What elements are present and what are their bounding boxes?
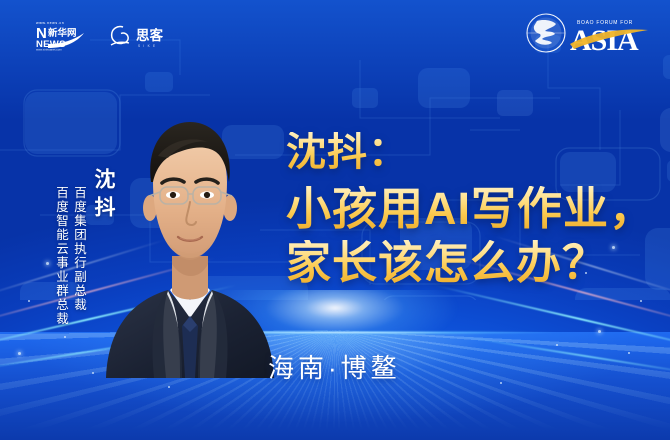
speaker-title-line-2: 百度智能云事业群总裁 [52, 186, 71, 326]
portrait-speaker [96, 78, 284, 378]
poster-root: www.news.cn N 新华网 NEWS www.xinhuanet.com… [0, 0, 670, 440]
xinhuanet-logo[interactable]: www.news.cn N 新华网 NEWS www.xinhuanet.com [36, 19, 114, 51]
headline-line-2: 小孩用AI写作业， [286, 186, 655, 231]
sparkle [640, 300, 642, 302]
sparkle [500, 382, 502, 384]
headline-line-3: 家长该怎么办？ [286, 240, 655, 285]
sparkle [28, 300, 30, 302]
sike-latin: S I K E [138, 44, 156, 48]
speaker-name-vertical: 沈抖 [88, 168, 118, 224]
sparkle [598, 330, 601, 333]
sike-logo[interactable]: 思客 S I K E [108, 21, 180, 49]
headline-block: 沈抖： 小孩用AI写作业， 家长该怎么办？ [286, 132, 655, 285]
sike-chinese: 思客 [136, 27, 163, 44]
sparkle [18, 352, 21, 355]
sparkle [64, 336, 66, 338]
xinhuanet-chinese: 新华网 [48, 27, 77, 39]
xinhuanet-url-bottom: www.xinhuanet.com [36, 48, 62, 51]
sparkle [46, 262, 49, 265]
location-label: 海南·博鳌 [268, 348, 401, 385]
speaker-title-line-1: 百度集团执行副总裁 [70, 186, 89, 312]
boao-forum-asia-logo[interactable]: BOAO FORUM FOR ASIA [520, 8, 652, 58]
sparkle [92, 372, 94, 374]
globe-icon [527, 14, 565, 52]
sike-spiral-icon [112, 27, 129, 44]
sparkle [168, 386, 170, 388]
sparkle [628, 352, 630, 354]
headline-line-1: 沈抖： [286, 132, 655, 172]
sparkle [556, 344, 558, 346]
